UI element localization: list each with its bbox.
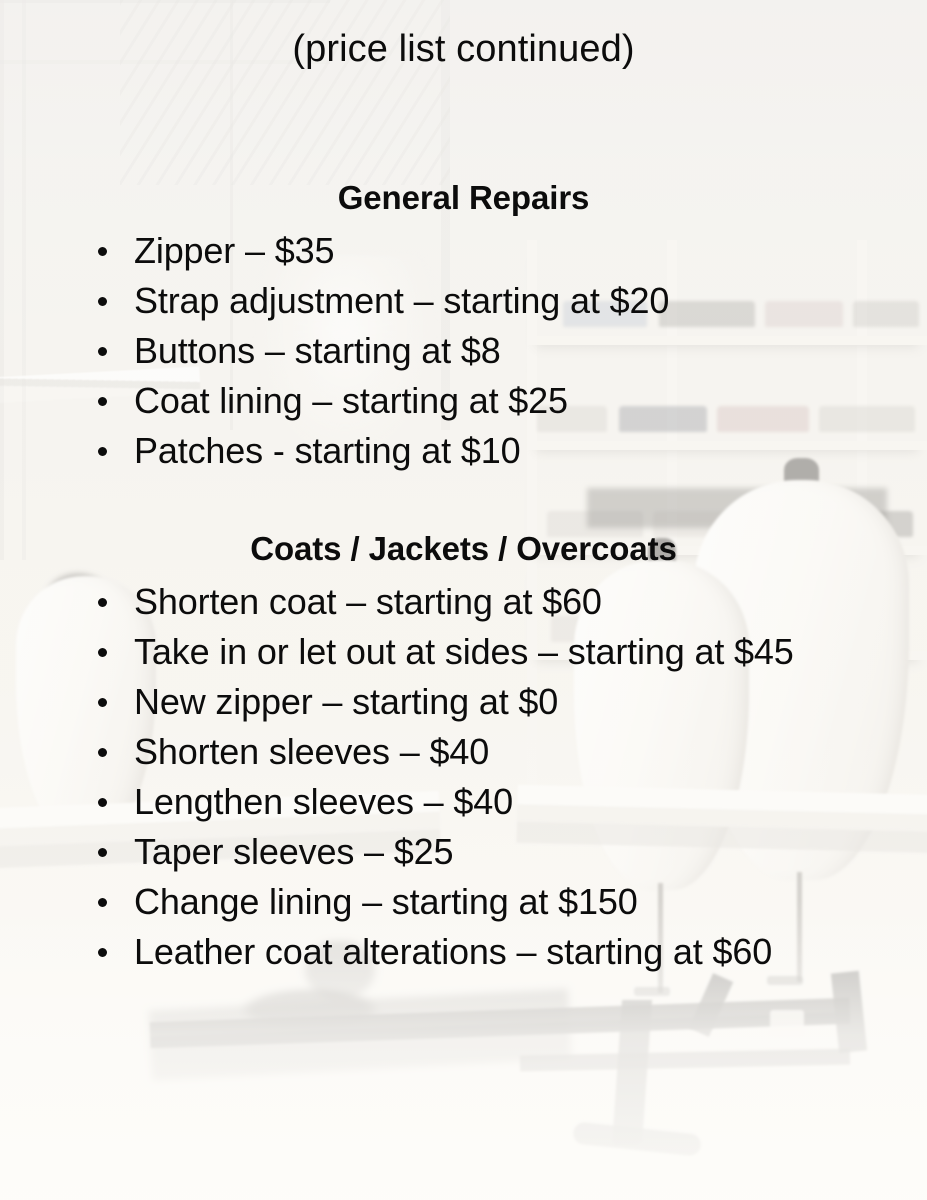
price-list-general-repairs: Zipper – $35 Strap adjustment – starting… [0,226,927,476]
list-item: Lengthen sleeves – $40 [0,777,927,827]
bullet-icon [98,948,107,957]
bullet-icon [98,798,107,807]
bullet-icon [98,247,107,256]
bullet-icon [98,598,107,607]
list-item: Leather coat alterations – starting at $… [0,927,927,977]
list-item-label: New zipper – starting at $0 [134,681,558,722]
list-item: Patches - starting at $10 [0,426,927,476]
list-item-label: Patches - starting at $10 [134,430,520,471]
list-item: Taper sleeves – $25 [0,827,927,877]
list-item-label: Strap adjustment – starting at $20 [134,280,669,321]
list-item: New zipper – starting at $0 [0,677,927,727]
list-item-label: Taper sleeves – $25 [134,831,453,872]
list-item: Take in or let out at sides – starting a… [0,627,927,677]
bullet-icon [98,748,107,757]
list-item-label: Lengthen sleeves – $40 [134,781,513,822]
bullet-icon [98,848,107,857]
list-item-label: Coat lining – starting at $25 [134,380,568,421]
price-list-slide: (price list continued) General Repairs Z… [0,0,927,1200]
bullet-icon [98,447,107,456]
list-item-label: Change lining – starting at $150 [134,881,638,922]
list-item-label: Leather coat alterations – starting at $… [134,931,772,972]
price-list-coats-jackets-overcoats: Shorten coat – starting at $60 Take in o… [0,577,927,977]
section-general-repairs: General Repairs Zipper – $35 Strap adjus… [0,178,927,476]
list-item-label: Buttons – starting at $8 [134,330,501,371]
list-item: Buttons – starting at $8 [0,326,927,376]
bullet-icon [98,297,107,306]
section-heading: General Repairs [0,178,927,218]
list-item: Strap adjustment – starting at $20 [0,276,927,326]
slide-content: (price list continued) General Repairs Z… [0,0,927,1200]
bullet-icon [98,648,107,657]
bullet-icon [98,347,107,356]
list-item-label: Shorten coat – starting at $60 [134,581,602,622]
list-item-label: Take in or let out at sides – starting a… [134,631,794,672]
list-item: Change lining – starting at $150 [0,877,927,927]
list-item: Shorten coat – starting at $60 [0,577,927,627]
list-item: Shorten sleeves – $40 [0,727,927,777]
bullet-icon [98,898,107,907]
section-heading: Coats / Jackets / Overcoats [0,529,927,569]
bullet-icon [98,397,107,406]
list-item: Zipper – $35 [0,226,927,276]
list-item-label: Zipper – $35 [134,230,334,271]
page-title: (price list continued) [0,28,927,72]
section-coats-jackets-overcoats: Coats / Jackets / Overcoats Shorten coat… [0,529,927,977]
list-item: Coat lining – starting at $25 [0,376,927,426]
bullet-icon [98,698,107,707]
list-item-label: Shorten sleeves – $40 [134,731,489,772]
